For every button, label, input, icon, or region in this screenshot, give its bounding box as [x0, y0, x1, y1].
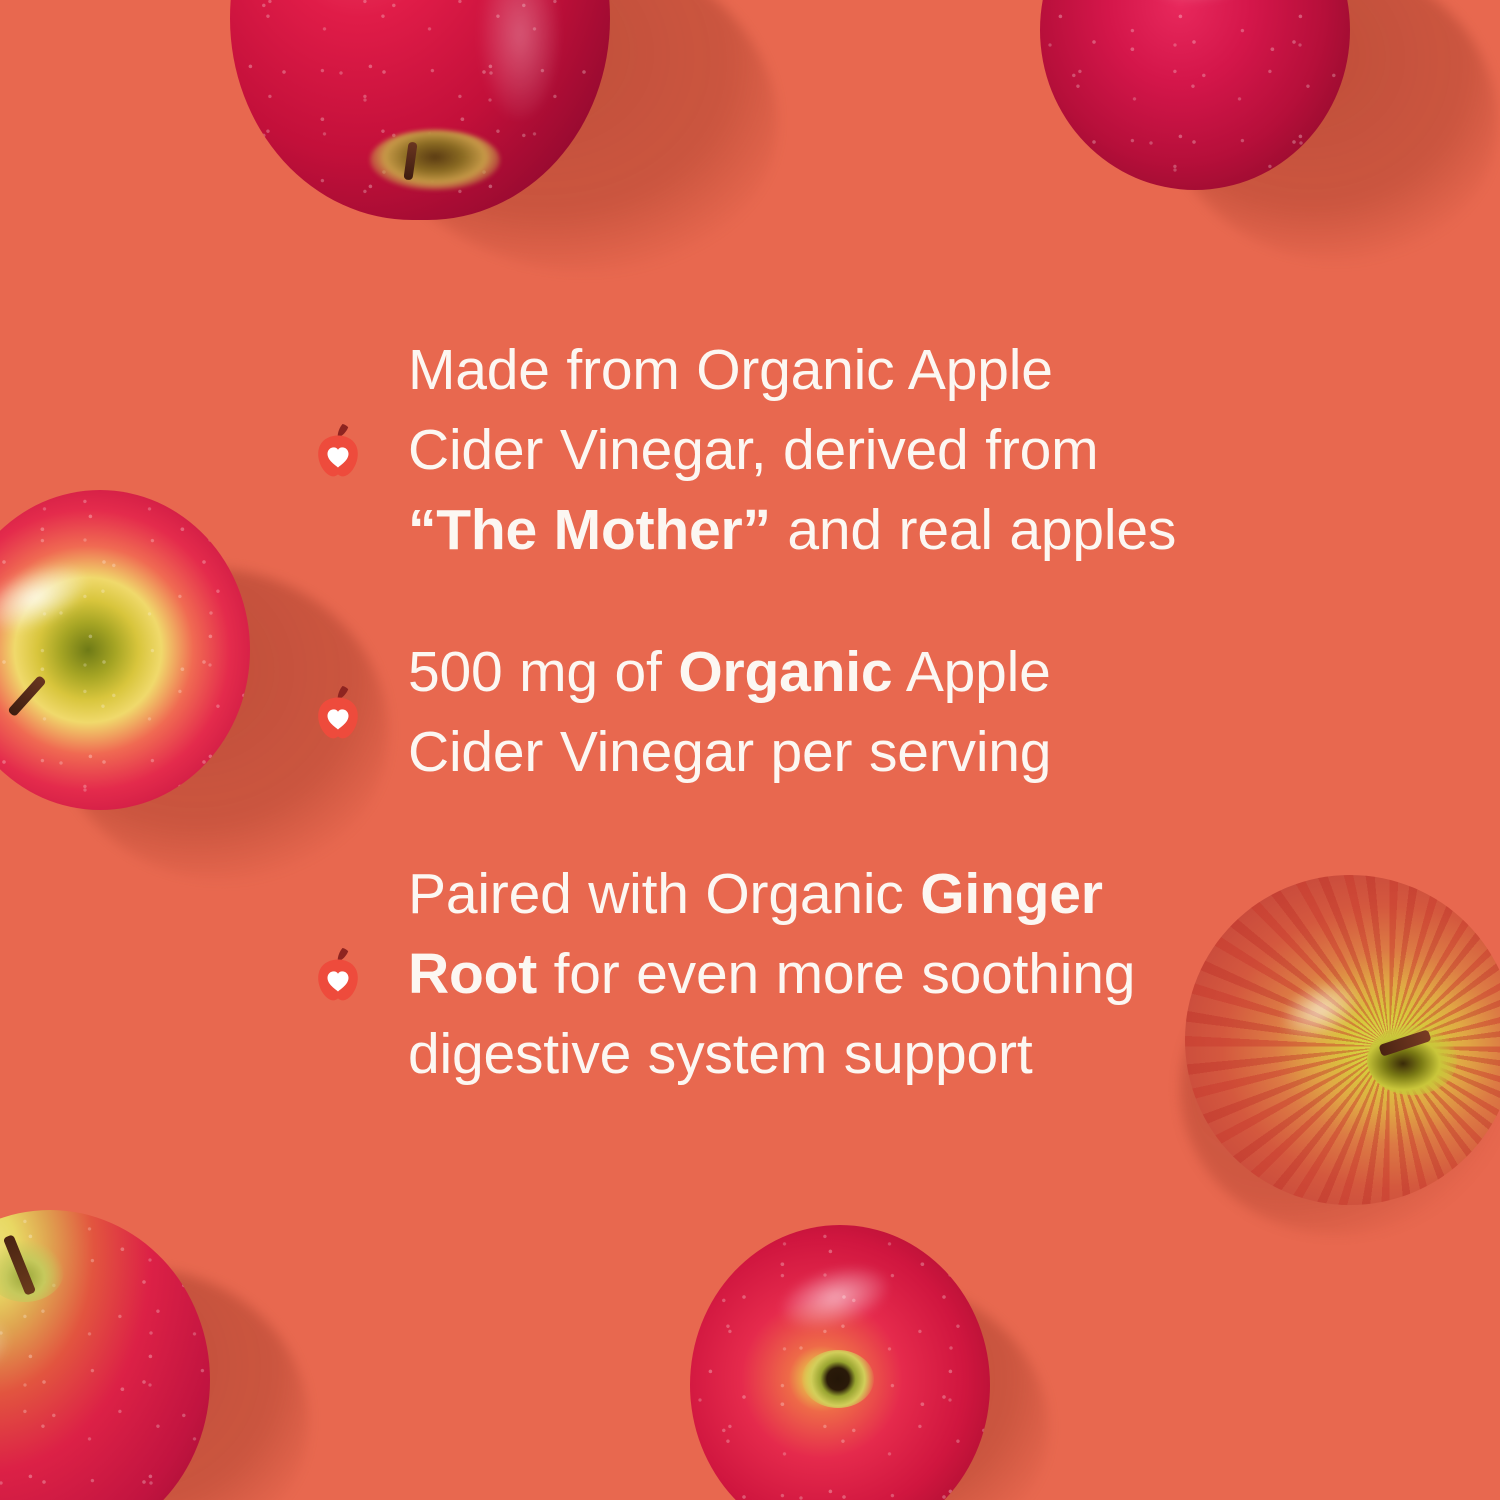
apple-top-left: [210, 0, 730, 320]
list-item: Made from Organic Apple Cider Vinegar, d…: [312, 330, 1192, 570]
apple-body: [690, 1225, 990, 1500]
apple-heart-icon: [312, 684, 364, 740]
apple-bottom-left: [0, 1210, 310, 1500]
apple-speckles: [0, 490, 250, 810]
list-item-text: 500 mg of Organic Apple Cider Vinegar pe…: [408, 632, 1192, 792]
apple-bottom-center: [650, 1220, 1050, 1500]
apple-heart-icon: [312, 946, 364, 1002]
list-item-text: Paired with Organic Ginger Root for even…: [408, 854, 1192, 1094]
apple-calyx: [370, 130, 500, 190]
apple-stripes: [1185, 875, 1500, 1205]
apple-body: [230, 0, 610, 220]
feature-bullet-list: Made from Organic Apple Cider Vinegar, d…: [312, 330, 1192, 1156]
apple-mid-right: [1160, 855, 1500, 1255]
apple-speckles: [1040, 0, 1350, 190]
list-item-text: Made from Organic Apple Cider Vinegar, d…: [408, 330, 1192, 570]
apple-top-right: [1010, 0, 1480, 300]
apple-body: [0, 490, 250, 810]
apple-heart-icon: [312, 422, 364, 478]
apple-body: [0, 1210, 210, 1500]
apple-body: [1040, 0, 1350, 190]
apple-calyx: [802, 1350, 874, 1408]
list-item: 500 mg of Organic Apple Cider Vinegar pe…: [312, 632, 1192, 792]
promo-banner: Made from Organic Apple Cider Vinegar, d…: [0, 0, 1500, 1500]
apple-body: [1185, 875, 1500, 1205]
list-item: Paired with Organic Ginger Root for even…: [312, 854, 1192, 1094]
